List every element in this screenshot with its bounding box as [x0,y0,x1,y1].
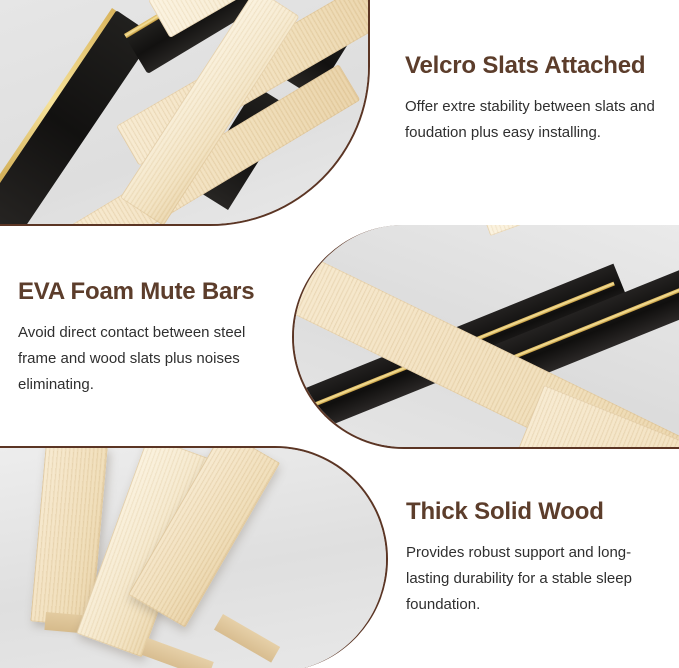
velcro-photo-scene [0,0,368,224]
eva-feature-title: EVA Foam Mute Bars [18,278,286,306]
wood-feature-text: Thick Solid Wood Provides robust support… [406,498,658,618]
velcro-feature-description: Offer extre stability between slats and … [405,94,667,147]
wood-feature-title: Thick Solid Wood [406,498,658,526]
wood-slat-top-right [474,225,679,236]
velcro-slats-photo [0,0,370,226]
thick-solid-wood-photo [0,446,388,668]
eva-photo-scene [294,225,679,447]
wood-feature-description: Provides robust support and long-lasting… [406,540,658,619]
velcro-feature-title: Velcro Slats Attached [405,52,667,80]
wood-photo-scene [0,448,386,668]
eva-feature-text: EVA Foam Mute Bars Avoid direct contact … [18,278,286,398]
solid-wood-slat-3-end-grain [214,614,280,663]
product-feature-infographic: Velcro Slats Attached Offer extre stabil… [0,0,679,668]
velcro-feature-text: Velcro Slats Attached Offer extre stabil… [405,52,667,146]
eva-feature-description: Avoid direct contact between steel frame… [18,320,286,399]
eva-foam-photo [292,225,679,449]
wood-slat-bottom-right [518,385,679,449]
solid-wood-slat-2-end-grain [142,638,214,668]
